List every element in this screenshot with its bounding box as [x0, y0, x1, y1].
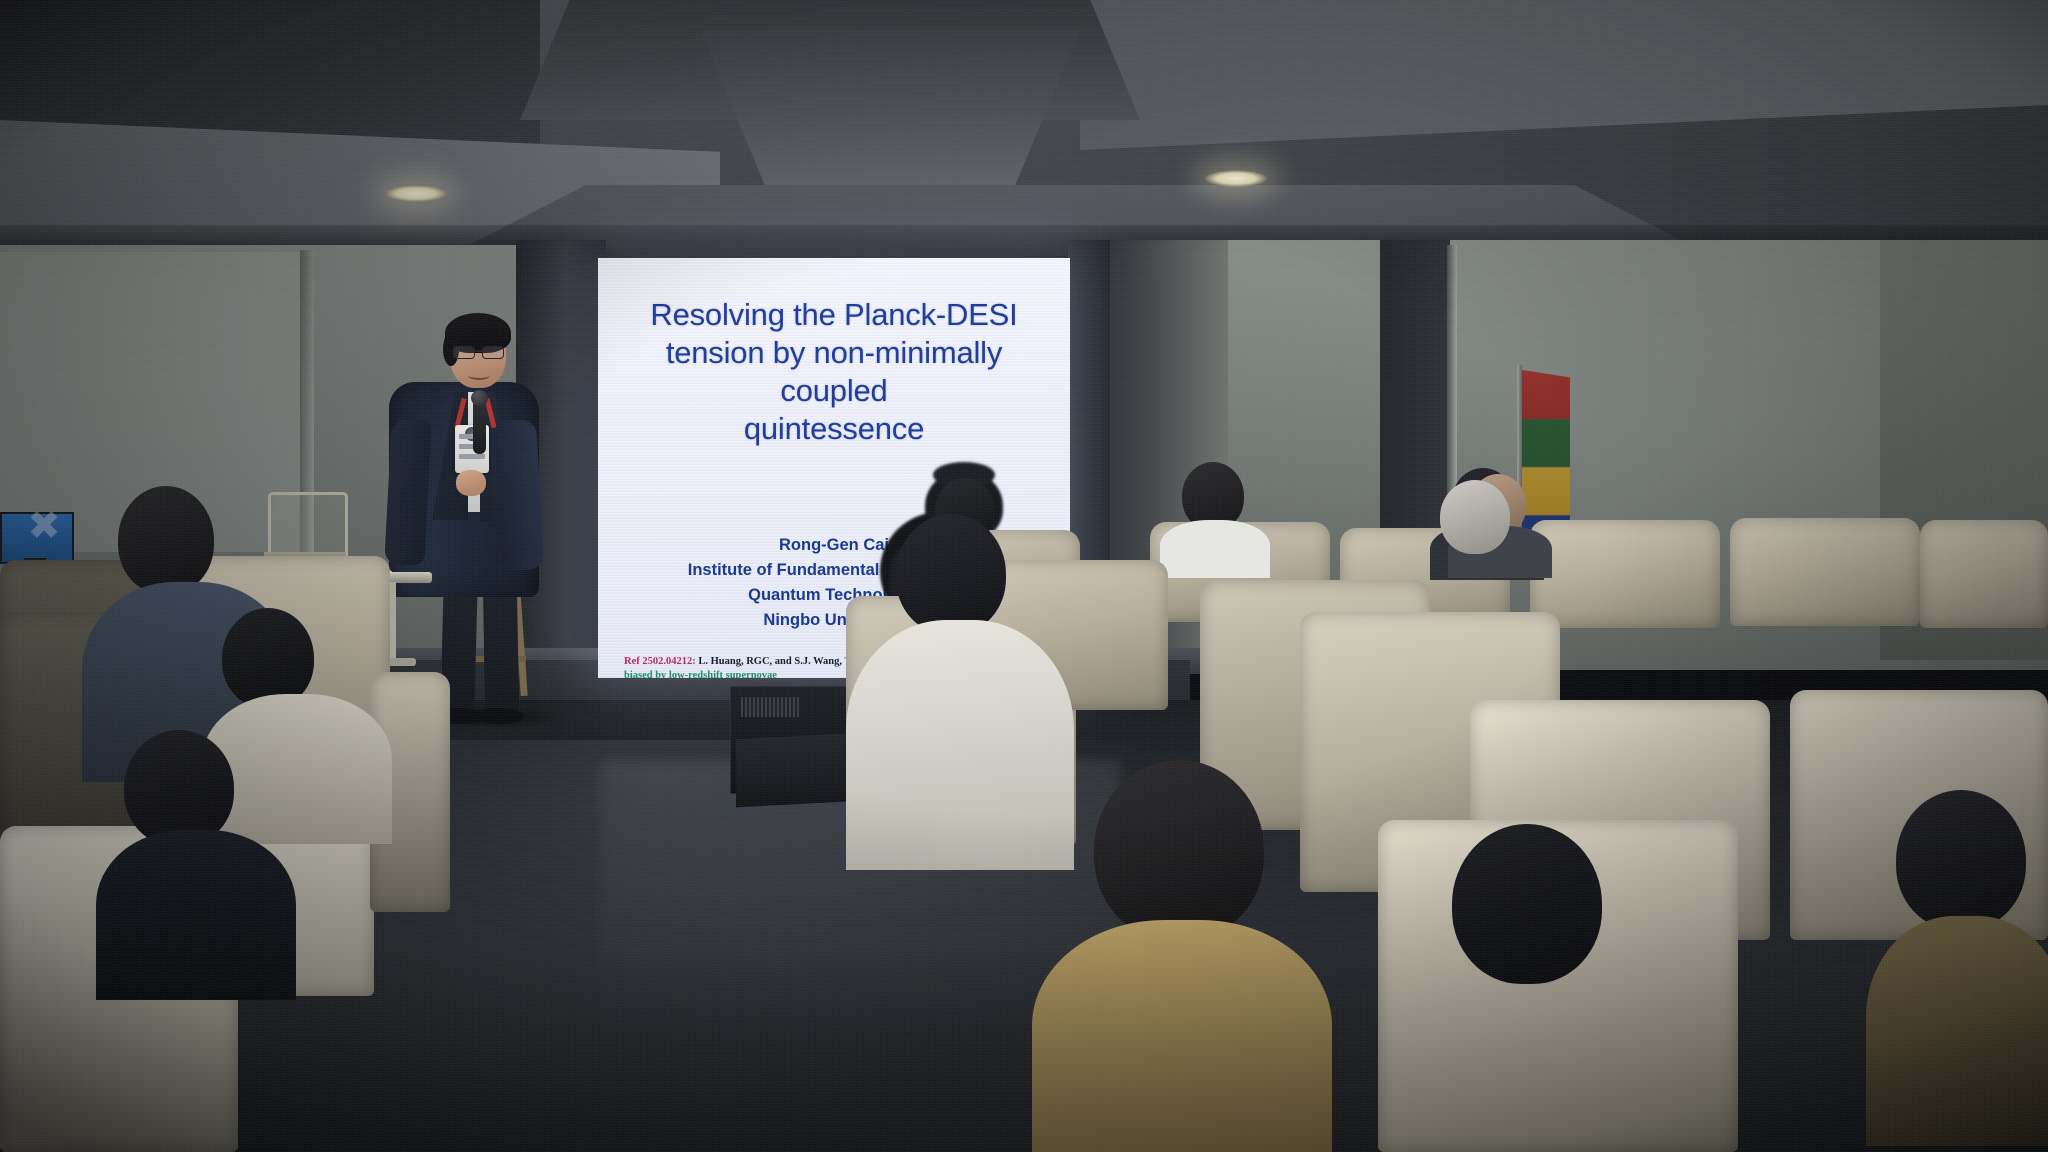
- chair-back: [1730, 518, 1920, 626]
- shoulders: [1160, 520, 1270, 578]
- reference-authors: L. Huang, RGC, and S.J. Wang,: [698, 656, 842, 667]
- lens: [482, 346, 504, 359]
- speaker-arm: [384, 419, 432, 566]
- speaker-smile: [468, 371, 490, 380]
- speaker-legs: [440, 580, 524, 720]
- audience-person: [1032, 760, 1332, 1152]
- bridge: [474, 350, 483, 352]
- shoulders: [96, 830, 296, 1000]
- head: [896, 514, 1006, 634]
- speaker-leg: [483, 580, 519, 717]
- downlight-icon: [385, 185, 447, 202]
- head: [124, 730, 234, 846]
- speaker-shoe: [476, 708, 524, 724]
- shoulders: [1032, 920, 1332, 1152]
- slide-title: Resolving the Planck-DESI tension by non…: [612, 296, 1056, 449]
- chair: [1920, 520, 2048, 670]
- shoulders: [1866, 916, 2048, 1146]
- microphone-head-icon: [471, 390, 488, 406]
- badge-line: [459, 454, 485, 459]
- slide-title-line-2: tension by non-minimally coupled: [612, 334, 1056, 410]
- head: [1896, 790, 2026, 930]
- loudspeaker-cabinet-lower: [736, 733, 864, 808]
- eyeglasses-icon: [452, 346, 506, 358]
- lens: [453, 346, 475, 359]
- audience-person: [1418, 480, 1538, 620]
- ceiling-panel-right: [1080, 0, 2048, 150]
- head: [1452, 824, 1602, 984]
- reference-id: Ref 2502.04212:: [624, 656, 696, 667]
- speaker-arm: [494, 419, 544, 571]
- head: [1440, 480, 1510, 554]
- downlight-icon: [1205, 170, 1267, 187]
- head: [1094, 760, 1264, 940]
- chair-back: [1920, 520, 2048, 628]
- audience-person: [1412, 824, 1712, 1152]
- head: [222, 608, 314, 708]
- slide-title-line-1: Resolving the Planck-DESI: [612, 296, 1056, 334]
- speaker-hand: [456, 470, 486, 496]
- speaker-grill: [741, 697, 799, 717]
- audience-person: [1876, 790, 2048, 1152]
- monitor-cross-icon: ✖: [18, 500, 70, 552]
- ceiling: [0, 0, 2048, 262]
- slide-title-line-3: quintessence: [612, 410, 1056, 448]
- audience-person: [1168, 462, 1258, 562]
- chair: [1730, 518, 1920, 668]
- head: [118, 486, 214, 594]
- conference-photo: Resolving the Planck-DESI tension by non…: [0, 0, 2048, 1152]
- audience-person: [96, 730, 306, 990]
